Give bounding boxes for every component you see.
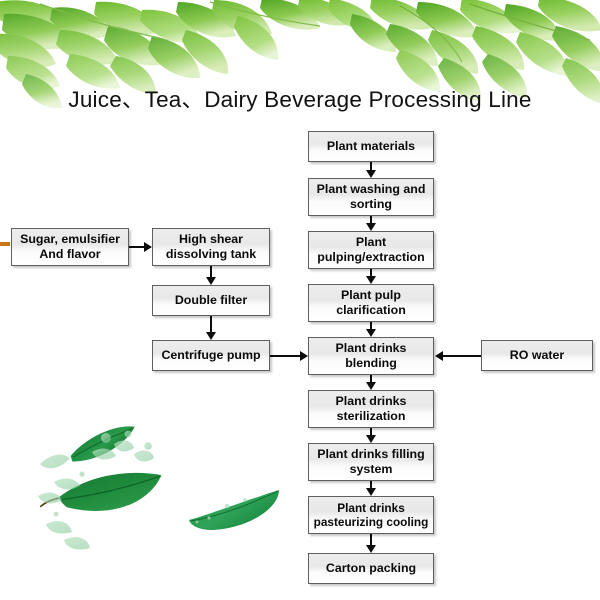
node-carton-packing[interactable]: Carton packing <box>308 553 434 584</box>
page-title: Juice、Tea、Dairy Beverage Processing Line <box>0 82 600 114</box>
node-plant-drinks-pasteurizing[interactable]: Plant drinks pasteurizing cooling <box>308 496 434 534</box>
arrowhead-right <box>144 242 152 252</box>
arrowhead-down <box>366 276 376 284</box>
arrowhead-down <box>366 545 376 553</box>
connector-highshear-to-doublefilter <box>210 266 212 277</box>
node-plant-drinks-filling[interactable]: Plant drinks filling system <box>308 443 434 481</box>
connector-sterilization-to-filling <box>370 428 372 435</box>
node-centrifuge-pump[interactable]: Centrifuge pump <box>152 340 270 371</box>
node-plant-materials[interactable]: Plant materials <box>308 131 434 162</box>
arrowhead-down <box>366 223 376 231</box>
flowchart-page: Juice、Tea、Dairy Beverage Processing Line <box>0 0 600 600</box>
arrowhead-left <box>435 351 443 361</box>
node-plant-drinks-sterilization[interactable]: Plant drinks sterilization <box>308 390 434 428</box>
connector-filling-to-pasteurizing <box>370 481 372 488</box>
connector-rowater-to-blending <box>443 355 481 357</box>
connector-washing-to-pulping <box>370 216 372 223</box>
arrowhead-down <box>366 382 376 390</box>
tea-leaf-icon <box>183 486 288 534</box>
arrowhead-down <box>366 329 376 337</box>
connector-clarification-to-blending <box>370 322 372 329</box>
connector-sugar-to-highshear <box>129 246 144 248</box>
arrowhead-down <box>206 332 216 340</box>
node-plant-drinks-blending[interactable]: Plant drinks blending <box>308 337 434 375</box>
arrowhead-down <box>206 277 216 285</box>
node-high-shear-dissolving-tank[interactable]: High shear dissolving tank <box>152 228 270 266</box>
node-ro-water[interactable]: RO water <box>481 340 593 371</box>
arrowhead-right <box>300 351 308 361</box>
node-plant-washing-sorting[interactable]: Plant washing and sorting <box>308 178 434 216</box>
node-plant-pulping-extraction[interactable]: Plant pulping/extraction <box>308 231 434 269</box>
connector-pulping-to-clarification <box>370 269 372 276</box>
connector-centrifuge-to-blending <box>270 355 300 357</box>
accent-mark-icon <box>0 242 10 246</box>
connector-pasteurizing-to-carton <box>370 534 372 545</box>
connector-blending-to-sterilization <box>370 375 372 382</box>
node-plant-pulp-clarification[interactable]: Plant pulp clarification <box>308 284 434 322</box>
arrowhead-down <box>366 435 376 443</box>
node-double-filter[interactable]: Double filter <box>152 285 270 316</box>
tea-leaf-icon <box>36 418 186 558</box>
connector-materials-to-washing <box>370 162 372 170</box>
connector-doublefilter-to-centrifuge <box>210 316 212 332</box>
node-sugar-emulsifier-flavor[interactable]: Sugar, emulsifier And flavor <box>11 228 129 266</box>
arrowhead-down <box>366 170 376 178</box>
arrowhead-down <box>366 488 376 496</box>
